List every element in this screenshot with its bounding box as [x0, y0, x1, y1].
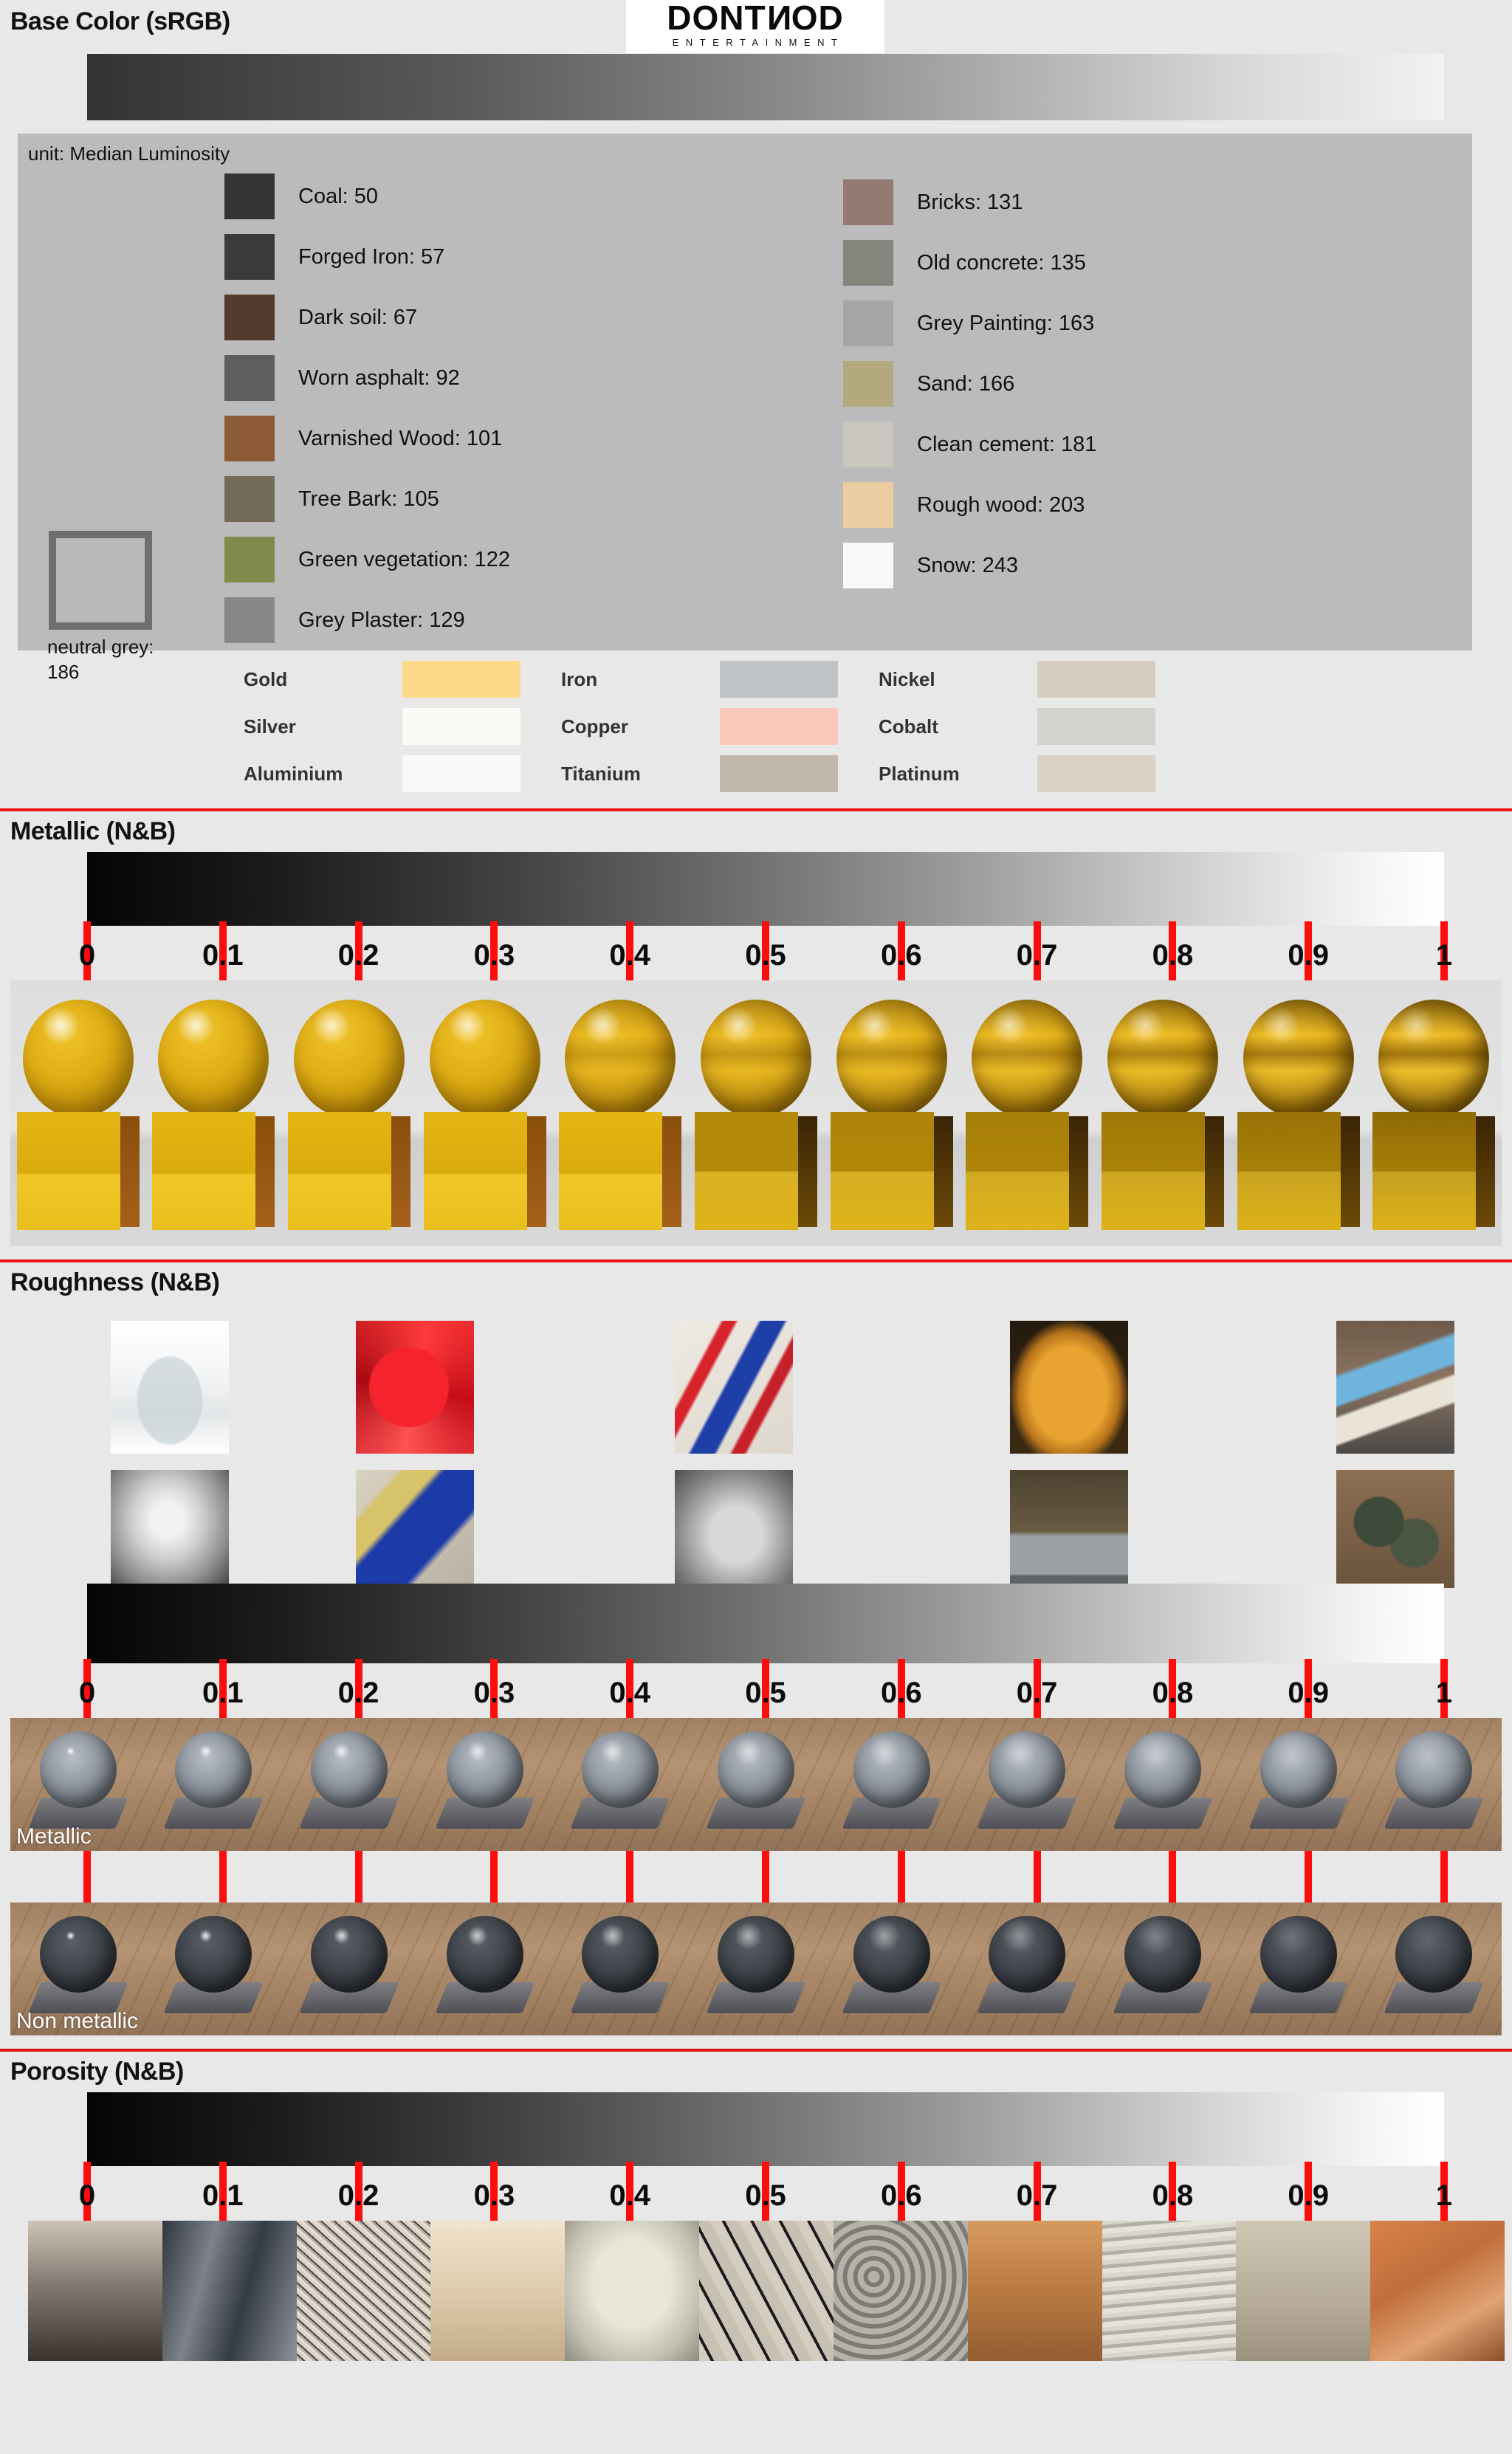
porosity-section: Porosity (N&B) 00.10.20.30.40.50.60.70.8…	[0, 2049, 1512, 2361]
cube-front-face	[288, 1112, 391, 1230]
photo-content	[675, 1470, 793, 1588]
roughness-ramp-wrap: 00.10.20.30.40.50.60.70.80.91	[87, 1584, 1444, 1718]
scale-tick-label: 0.5	[745, 939, 786, 972]
legend-swatch	[224, 597, 275, 643]
scale-tick-label: 0.4	[609, 1677, 650, 1710]
legend-swatch	[224, 234, 275, 280]
legend-row: Tree Bark: 105	[224, 469, 510, 529]
porosity-photo-strip	[28, 2221, 1505, 2361]
legend-row: Green vegetation: 122	[224, 529, 510, 590]
material-sphere	[582, 1916, 659, 1993]
legend-label: Rough wood: 203	[917, 493, 1085, 518]
scale-tick-label: 0.3	[474, 1677, 515, 1710]
legend-row: Forged Iron: 57	[224, 227, 510, 287]
legend-swatch	[224, 173, 275, 219]
scale-tick-label: 0.3	[474, 2179, 515, 2213]
roughness-reference-photo	[356, 1321, 474, 1454]
scale-tick-label: 0.1	[202, 2179, 244, 2213]
roughness-non-metallic-sample	[688, 1903, 824, 2035]
photo-content	[1336, 1470, 1454, 1588]
metal-swatch	[402, 661, 520, 698]
neutral-grey-swatch	[49, 531, 152, 630]
legend-label: Sand: 166	[917, 372, 1014, 396]
legend-row: Grey Plaster: 129	[224, 590, 510, 650]
legend-row: Dark soil: 67	[224, 287, 510, 348]
scale-tick-label: 0.6	[881, 939, 922, 972]
material-sphere	[447, 1731, 523, 1808]
material-sphere	[718, 1916, 794, 1993]
metals-table: GoldIronNickelSilverCopperCobaltAluminiu…	[244, 661, 1512, 792]
metallic-tick-row: 00.10.20.30.40.50.60.70.80.91	[87, 926, 1444, 980]
metal-name: Gold	[244, 668, 402, 691]
scale-connector-line	[490, 1851, 498, 1903]
cube-front-face	[1237, 1112, 1341, 1230]
material-sphere	[1260, 1731, 1337, 1808]
scale-tick-label: 1	[1436, 1677, 1452, 1710]
roughness-gradient-ramp	[87, 1584, 1444, 1663]
base-color-title: Base Color (sRGB)	[0, 0, 1512, 42]
cube-side-face	[798, 1116, 817, 1227]
scale-tick-label: 0.9	[1288, 2179, 1329, 2213]
photo-content	[356, 1470, 474, 1588]
roughness-metallic-sample	[417, 1718, 553, 1851]
label-metallic: Metallic	[16, 1824, 92, 1849]
material-sphere	[40, 1731, 117, 1808]
material-cube	[966, 1112, 1088, 1230]
roughness-metallic-sample	[146, 1718, 282, 1851]
roughness-tick-row: 00.10.20.30.40.50.60.70.80.91	[87, 1663, 1444, 1718]
legend-label: Clean cement: 181	[917, 433, 1096, 457]
porosity-tick-row: 00.10.20.30.40.50.60.70.80.91	[87, 2166, 1444, 2221]
roughness-non-metallic-sample	[959, 1903, 1095, 2035]
metal-swatch	[720, 755, 838, 792]
material-sphere	[1243, 1000, 1354, 1118]
roughness-non-metallic-sample	[281, 1903, 417, 2035]
cube-side-face	[1476, 1116, 1495, 1227]
scale-tick-label: 0.1	[202, 939, 244, 972]
scale-tick-label: 0.6	[881, 2179, 922, 2213]
roughness-reference-photo	[1010, 1321, 1128, 1454]
legend-column-right: Bricks: 131Old concrete: 135Grey Paintin…	[843, 172, 1096, 596]
porosity-sample-photo	[1102, 2221, 1237, 2361]
material-sphere	[565, 1000, 676, 1118]
metallic-spheres-strip	[10, 980, 1502, 1246]
material-sphere	[311, 1916, 388, 1993]
metal-name: Titanium	[561, 763, 720, 786]
scale-tick-label: 0.4	[609, 939, 650, 972]
legend-row: Sand: 166	[843, 354, 1096, 414]
porosity-sample-photo	[1236, 2221, 1370, 2361]
material-sphere	[582, 1731, 659, 1808]
legend-label: Grey Plaster: 129	[298, 608, 465, 633]
metallic-sample-cell	[824, 980, 960, 1246]
metallic-sample-cell	[1095, 980, 1231, 1246]
legend-row: Coal: 50	[224, 166, 510, 227]
scale-connector-line	[219, 1851, 227, 1903]
material-sphere	[989, 1731, 1065, 1808]
scale-tick-label: 0.2	[338, 939, 379, 972]
porosity-sample-photo	[297, 2221, 431, 2361]
legend-label: Tree Bark: 105	[298, 487, 439, 512]
roughness-title: Roughness (N&B)	[0, 1262, 1512, 1303]
scale-tick-label: 0.8	[1152, 939, 1194, 972]
cube-front-face	[17, 1112, 120, 1230]
cube-side-face	[934, 1116, 953, 1227]
material-sphere	[294, 1000, 405, 1118]
metal-name: Platinum	[879, 763, 1037, 786]
legend-swatch	[843, 240, 893, 286]
legend-label: Green vegetation: 122	[298, 548, 510, 572]
legend-label: Snow: 243	[917, 554, 1018, 578]
cube-front-face	[1102, 1112, 1205, 1230]
metallic-sample-cell	[417, 980, 553, 1246]
photo-content	[1010, 1470, 1128, 1588]
material-sphere	[40, 1916, 117, 1993]
cube-front-face	[152, 1112, 255, 1230]
photo-content	[356, 1321, 474, 1454]
scale-tick-label: 0.7	[1017, 939, 1058, 972]
material-sphere	[447, 1916, 523, 1993]
roughness-reference-photo	[356, 1470, 474, 1588]
scale-tick-label: 0.1	[202, 1677, 244, 1710]
label-non-metallic: Non metallic	[16, 2009, 138, 2034]
scale-tick-label: 0	[79, 2179, 95, 2213]
material-sphere	[718, 1731, 794, 1808]
cube-side-face	[527, 1116, 546, 1227]
material-sphere	[430, 1000, 540, 1118]
legend-row: Varnished Wood: 101	[224, 408, 510, 469]
legend-row: Snow: 243	[843, 535, 1096, 596]
metal-swatch	[1037, 708, 1155, 745]
cube-front-face	[966, 1112, 1069, 1230]
material-sphere	[1124, 1916, 1201, 1993]
legend-row: Rough wood: 203	[843, 475, 1096, 535]
scale-tick-label: 0.5	[745, 2179, 786, 2213]
material-sphere	[1395, 1731, 1472, 1808]
material-sphere	[23, 1000, 134, 1118]
scale-tick-label: 0.6	[881, 1677, 922, 1710]
material-sphere	[1378, 1000, 1489, 1118]
roughness-metallic-sample	[553, 1718, 689, 1851]
metallic-sample-cell	[1231, 980, 1367, 1246]
cube-front-face	[559, 1112, 662, 1230]
metal-swatch	[402, 708, 520, 745]
legend-row: Old concrete: 135	[843, 233, 1096, 293]
cube-front-face	[831, 1112, 934, 1230]
scale-tick-label: 0.5	[745, 1677, 786, 1710]
material-sphere	[1395, 1916, 1472, 1993]
roughness-section: Roughness (N&B) 00.10.20.30.40.50.60.70.…	[0, 1259, 1512, 2035]
scale-tick-label: 0.2	[338, 2179, 379, 2213]
roughness-metallic-strip: Metallic	[10, 1718, 1502, 1851]
legend-swatch	[843, 300, 893, 346]
cube-side-face	[1205, 1116, 1224, 1227]
material-cube	[1102, 1112, 1224, 1230]
scale-connector-line	[1034, 1851, 1041, 1903]
scale-tick-label: 0.4	[609, 2179, 650, 2213]
roughness-reference-photo	[1010, 1470, 1128, 1588]
roughness-non-metallic-sample	[1095, 1903, 1231, 2035]
legend-swatch	[224, 416, 275, 461]
roughness-non-metallic-sample	[417, 1903, 553, 2035]
material-cube	[1372, 1112, 1495, 1230]
metal-name: Silver	[244, 715, 402, 738]
porosity-sample-photo	[28, 2221, 162, 2361]
roughness-non-metallic-sample	[146, 1903, 282, 2035]
neutral-grey-name: neutral grey:	[47, 636, 154, 658]
base-color-gradient-bar	[87, 54, 1444, 120]
base-color-section: Base Color (sRGB) unit: Median Luminosit…	[0, 0, 1512, 792]
legend-label: Grey Painting: 163	[917, 312, 1094, 336]
metallic-sample-cell	[553, 980, 689, 1246]
scale-tick-label: 0.8	[1152, 1677, 1194, 1710]
scale-connector-line	[1305, 1851, 1312, 1903]
photo-content	[675, 1321, 793, 1454]
porosity-gradient-ramp	[87, 2092, 1444, 2166]
scale-tick-label: 0.9	[1288, 1677, 1329, 1710]
legend-label: Varnished Wood: 101	[298, 427, 502, 451]
material-sphere	[1260, 1916, 1337, 1993]
cube-front-face	[424, 1112, 527, 1230]
scale-connector-line	[626, 1851, 633, 1903]
cube-front-face	[695, 1112, 798, 1230]
porosity-sample-photo	[162, 2221, 297, 2361]
metallic-sample-cell	[959, 980, 1095, 1246]
metal-swatch	[1037, 755, 1155, 792]
roughness-metallic-sample	[1231, 1718, 1367, 1851]
material-sphere	[1124, 1731, 1201, 1808]
photo-content	[111, 1470, 229, 1588]
legend-swatch	[843, 179, 893, 225]
metal-name: Nickel	[879, 668, 1037, 691]
base-color-legend-panel: unit: Median Luminosity neutral grey: 18…	[18, 134, 1472, 650]
roughness-connector-lines	[87, 1851, 1444, 1903]
metal-name: Aluminium	[244, 763, 402, 786]
metal-swatch	[402, 755, 520, 792]
material-cube	[559, 1112, 681, 1230]
scale-tick-label: 0.3	[474, 939, 515, 972]
legend-label: Worn asphalt: 92	[298, 366, 460, 391]
photo-content	[111, 1321, 229, 1454]
metallic-sample-cell	[146, 980, 282, 1246]
scale-connector-line	[83, 1851, 91, 1903]
legend-row: Clean cement: 181	[843, 414, 1096, 475]
porosity-sample-photo	[968, 2221, 1102, 2361]
roughness-reference-photo	[675, 1321, 793, 1454]
legend-label: Forged Iron: 57	[298, 245, 444, 269]
roughness-metallic-sample	[281, 1718, 417, 1851]
roughness-reference-photo	[111, 1470, 229, 1588]
material-sphere	[989, 1916, 1065, 1993]
legend-label: Dark soil: 67	[298, 306, 417, 330]
porosity-sample-photo	[1370, 2221, 1505, 2361]
metallic-title: Metallic (N&B)	[0, 811, 1512, 852]
metal-swatch	[1037, 661, 1155, 698]
roughness-non-metallic-sample	[1231, 1903, 1367, 2035]
roughness-metallic-sample	[1366, 1718, 1502, 1851]
material-sphere	[175, 1731, 252, 1808]
material-cube	[152, 1112, 275, 1230]
scale-tick-label: 0	[79, 939, 95, 972]
legend-column-left: Coal: 50Forged Iron: 57Dark soil: 67Worn…	[224, 166, 510, 650]
roughness-metallic-sample	[824, 1718, 960, 1851]
metallic-sample-cell	[281, 980, 417, 1246]
neutral-grey-value: 186	[47, 661, 79, 683]
roughness-metallic-sample	[1095, 1718, 1231, 1851]
scale-tick-label: 1	[1436, 939, 1452, 972]
metallic-ramp-wrap: 00.10.20.30.40.50.60.70.80.91	[87, 852, 1444, 980]
material-cube	[831, 1112, 953, 1230]
cube-side-face	[662, 1116, 681, 1227]
unit-label: unit: Median Luminosity	[28, 142, 230, 165]
porosity-ramp-wrap: 00.10.20.30.40.50.60.70.80.91	[87, 2092, 1444, 2221]
photo-content	[1010, 1321, 1128, 1454]
cube-side-face	[391, 1116, 410, 1227]
neutral-grey-label: neutral grey: 186	[47, 634, 195, 684]
legend-swatch	[843, 543, 893, 588]
material-sphere	[701, 1000, 811, 1118]
photo-content	[1336, 1321, 1454, 1454]
cube-front-face	[1372, 1112, 1476, 1230]
roughness-reference-photos	[10, 1303, 1502, 1584]
roughness-metallic-sample	[959, 1718, 1095, 1851]
scale-connector-line	[1169, 1851, 1176, 1903]
legend-swatch	[224, 537, 275, 582]
legend-swatch	[843, 422, 893, 467]
material-sphere	[1107, 1000, 1218, 1118]
scale-tick-label: 0.2	[338, 1677, 379, 1710]
legend-row: Grey Painting: 163	[843, 293, 1096, 354]
scale-tick-label: 0.7	[1017, 2179, 1058, 2213]
metal-name: Copper	[561, 715, 720, 738]
cube-side-face	[120, 1116, 140, 1227]
material-cube	[17, 1112, 140, 1230]
material-sphere	[158, 1000, 269, 1118]
legend-swatch	[224, 295, 275, 340]
legend-label: Old concrete: 135	[917, 251, 1086, 275]
porosity-sample-photo	[834, 2221, 968, 2361]
roughness-reference-photo	[675, 1470, 793, 1588]
scale-connector-line	[1440, 1851, 1448, 1903]
scale-tick-label: 0.7	[1017, 1677, 1058, 1710]
metallic-gradient-ramp	[87, 852, 1444, 926]
roughness-metallic-sample	[688, 1718, 824, 1851]
material-cube	[288, 1112, 410, 1230]
material-sphere	[175, 1916, 252, 1993]
roughness-non-metallic-strip: Non metallic	[10, 1903, 1502, 2035]
metallic-section: Metallic (N&B) 00.10.20.30.40.50.60.70.8…	[0, 808, 1512, 1246]
legend-label: Coal: 50	[298, 185, 378, 209]
material-cube	[424, 1112, 546, 1230]
porosity-sample-photo	[565, 2221, 699, 2361]
cube-side-face	[255, 1116, 275, 1227]
porosity-title: Porosity (N&B)	[0, 2052, 1512, 2092]
porosity-sample-photo	[430, 2221, 565, 2361]
roughness-reference-photo	[1336, 1470, 1454, 1588]
legend-row: Bricks: 131	[843, 172, 1096, 233]
metallic-sample-cell	[688, 980, 824, 1246]
material-sphere	[311, 1731, 388, 1808]
metal-swatch	[720, 708, 838, 745]
material-sphere	[853, 1916, 930, 1993]
scale-tick-label: 0	[79, 1677, 95, 1710]
cube-side-face	[1069, 1116, 1088, 1227]
metal-swatch	[720, 661, 838, 698]
material-sphere	[972, 1000, 1082, 1118]
scale-tick-label: 0.9	[1288, 939, 1329, 972]
scale-tick-label: 1	[1436, 2179, 1452, 2213]
legend-row: Worn asphalt: 92	[224, 348, 510, 408]
roughness-reference-photo	[1336, 1321, 1454, 1454]
roughness-non-metallic-sample	[553, 1903, 689, 2035]
legend-label: Bricks: 131	[917, 190, 1023, 215]
scale-tick-label: 0.8	[1152, 2179, 1194, 2213]
legend-swatch	[224, 355, 275, 401]
roughness-non-metallic-sample	[1366, 1903, 1502, 2035]
porosity-sample-photo	[699, 2221, 834, 2361]
legend-swatch	[843, 361, 893, 407]
scale-connector-line	[355, 1851, 362, 1903]
roughness-reference-photo	[111, 1321, 229, 1454]
material-cube	[1237, 1112, 1360, 1230]
material-sphere	[853, 1731, 930, 1808]
cube-side-face	[1341, 1116, 1360, 1227]
material-sphere	[836, 1000, 947, 1118]
metallic-sample-cell	[10, 980, 146, 1246]
legend-swatch	[843, 482, 893, 528]
scale-connector-line	[898, 1851, 905, 1903]
legend-swatch	[224, 476, 275, 522]
roughness-non-metallic-sample	[824, 1903, 960, 2035]
material-cube	[695, 1112, 817, 1230]
metallic-sample-cell	[1366, 980, 1502, 1246]
scale-connector-line	[762, 1851, 769, 1903]
metal-name: Iron	[561, 668, 720, 691]
metal-name: Cobalt	[879, 715, 1037, 738]
